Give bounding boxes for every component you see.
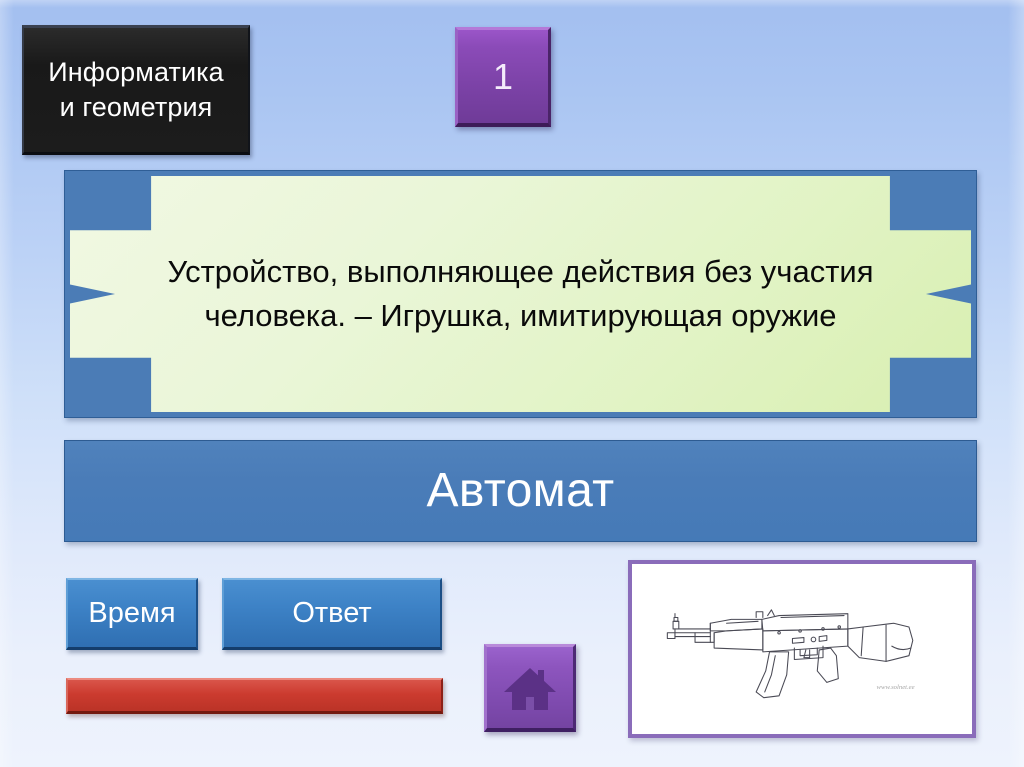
category-title-plate: Информатика и геометрия: [22, 25, 250, 155]
quiz-slide: Информатика и геометрия 1 Устройство, вы…: [0, 0, 1024, 767]
answer-text: Автомат: [426, 467, 614, 515]
question-number-value: 1: [493, 59, 513, 95]
question-panel: Устройство, выполняющее действия без уча…: [64, 170, 977, 418]
svg-text:www.solnet.ee: www.solnet.ee: [877, 684, 915, 691]
question-text: Устройство, выполняющее действия без уча…: [160, 250, 881, 338]
timer-progress-bar[interactable]: [66, 678, 443, 714]
rifle-illustration: www.solnet.ee: [632, 564, 972, 734]
question-plaque: Устройство, выполняющее действия без уча…: [70, 176, 971, 412]
home-icon: [502, 665, 558, 711]
answer-bar: Автомат: [64, 440, 977, 542]
time-button[interactable]: Время: [66, 578, 198, 650]
question-number-badge[interactable]: 1: [455, 27, 551, 127]
answer-button[interactable]: Ответ: [222, 578, 442, 650]
illustration-frame: www.solnet.ee: [628, 560, 976, 738]
category-title-text: Информатика и геометрия: [48, 55, 224, 124]
home-button[interactable]: [484, 644, 576, 732]
